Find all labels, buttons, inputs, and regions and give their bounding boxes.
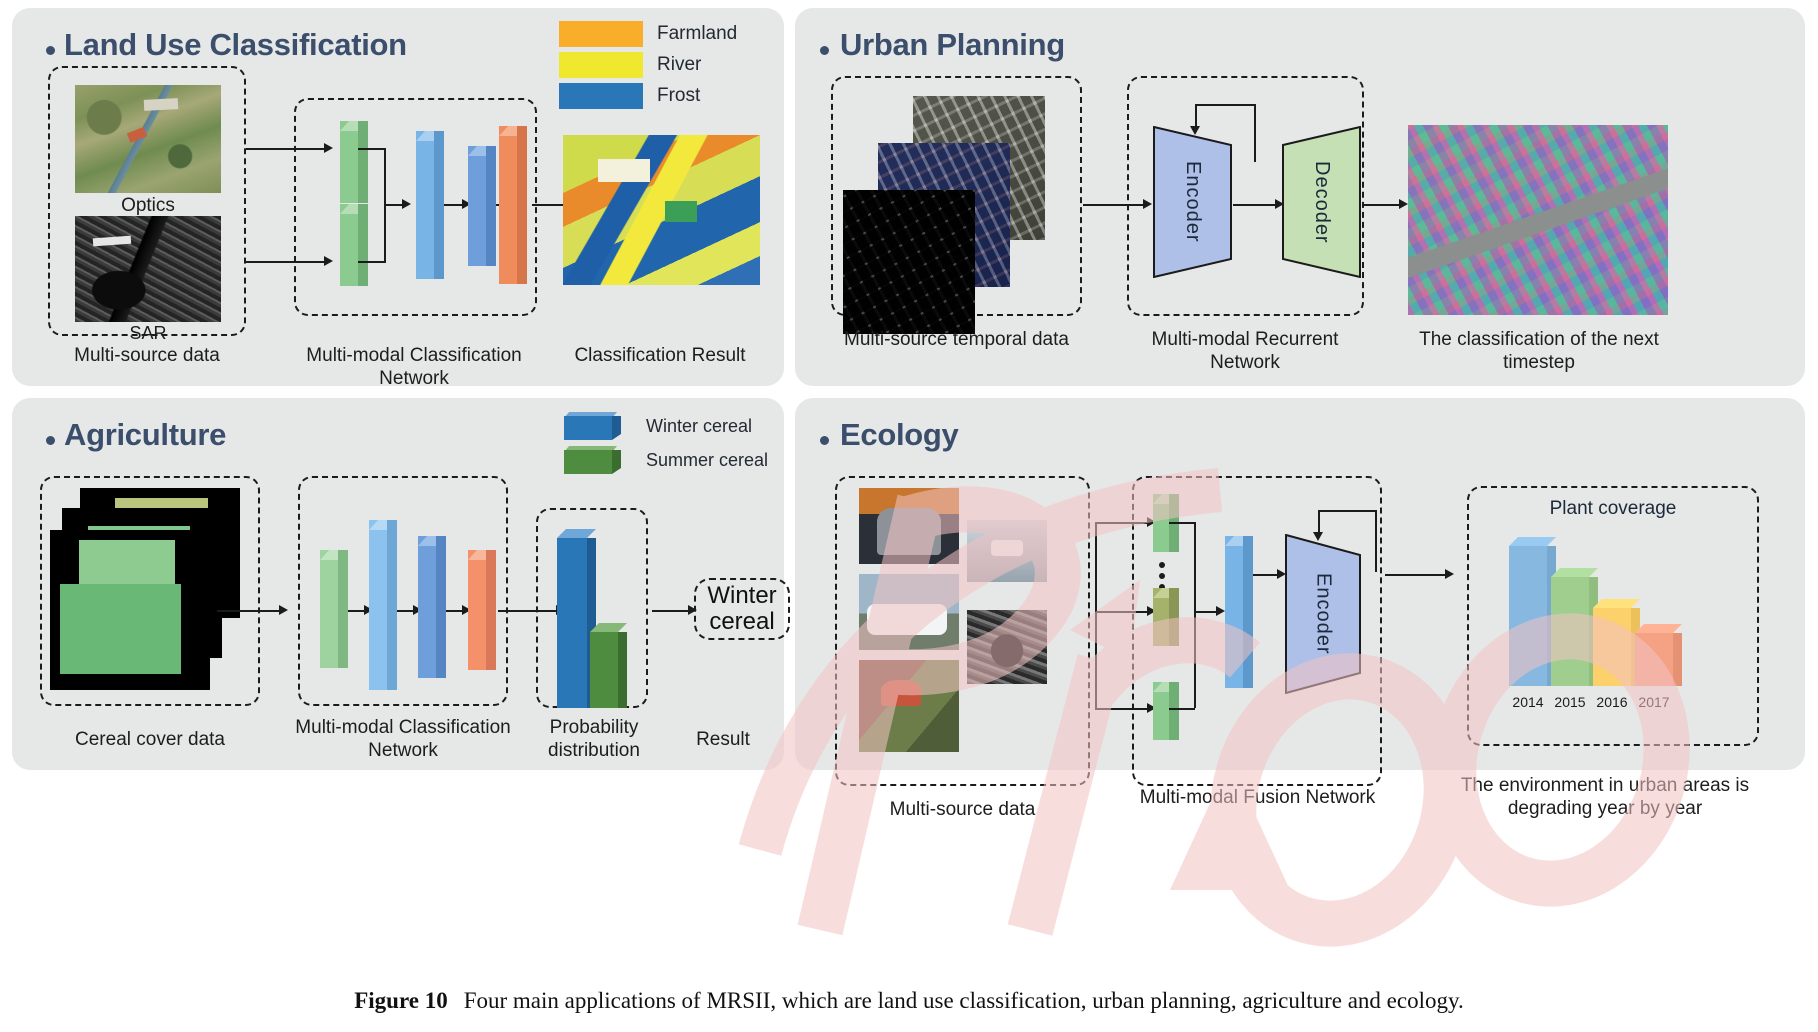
legend-swatch-farmland (559, 21, 643, 47)
encoder-label: Encoder (1181, 161, 1204, 243)
prob-bar-summer-cereal (590, 632, 618, 708)
bar-2014 (1509, 546, 1547, 686)
panel-title-agriculture: Agriculture (64, 417, 226, 453)
caption-multi-source-data: Multi-source data (48, 344, 246, 367)
arrow-head-input-agri (279, 605, 288, 615)
image-cereal-cover-3 (50, 530, 210, 690)
figure-caption: Figure 10Four main applications of MRSII… (0, 988, 1818, 1014)
layer-agri-conv-blue (418, 536, 436, 678)
legend-item-summer-cereal: Summer cereal (564, 446, 768, 474)
fanout-spine (1095, 522, 1097, 708)
caption-environment-degrading: The environment in urban areas is degrad… (1431, 774, 1779, 820)
caption-cereal-cover-data: Cereal cover data (30, 728, 270, 751)
arrow-agri-l1-l2 (397, 610, 413, 612)
arrow-head-eco-recurrent (1313, 532, 1323, 541)
layer-eco-conv-green-1 (1153, 494, 1169, 552)
panel-title-urban-planning: Urban Planning (840, 27, 1065, 63)
caption-classification-result: Classification Result (560, 344, 760, 367)
figure-caption-text: Four main applications of MRSII, which a… (464, 988, 1464, 1013)
legend-label-summer-cereal: Summer cereal (646, 450, 768, 471)
arrow-head-sar (324, 256, 333, 266)
eco-merge-bottom (1169, 708, 1195, 710)
eco-merge-out (1194, 611, 1216, 613)
bullet-icon-ecology (820, 436, 829, 445)
layer-agri-conv-green (320, 550, 338, 668)
layer-eco-conv-green-2 (1153, 588, 1169, 646)
layer-agri-conv-orange (468, 550, 486, 670)
figure-root: Land Use Classification Farmland River F… (0, 0, 1818, 1032)
arrow-agri-l0-l1 (348, 610, 364, 612)
chart-title-plant-coverage: Plant coverage (1467, 498, 1759, 520)
recurrent-loop-top (1195, 104, 1255, 106)
decoder-label: Decoder (1310, 161, 1333, 244)
label-sar: SAR (75, 322, 221, 345)
eco-recurrent-top (1318, 510, 1376, 512)
bar-label-2014: 2014 (1509, 694, 1547, 710)
legend-item-farmland: Farmland (559, 21, 737, 47)
merge-line-top (358, 148, 386, 150)
panel-land-use-classification: Land Use Classification Farmland River F… (12, 8, 784, 386)
bar-2017 (1635, 633, 1673, 686)
caption-multi-source-data-eco: Multi-source data (825, 798, 1100, 821)
arrow-eco-to-encoder (1253, 574, 1277, 576)
figure-number: Figure 10 (354, 988, 447, 1013)
arrow-head-recurrent (1190, 126, 1200, 135)
layer-conv-orange (499, 126, 517, 284)
layer-conv-green-bottom (340, 204, 358, 286)
block-encoder-eco: Encoder (1285, 534, 1361, 694)
bar-2015 (1551, 577, 1589, 686)
legend-label-farmland: Farmland (657, 23, 737, 45)
legend-label-frost: Frost (657, 85, 700, 107)
eco-merge-spine (1194, 522, 1196, 708)
caption-classification-network-agri: Multi-modal Classification Network (270, 716, 536, 762)
arrow-head-chart (1445, 569, 1454, 579)
bar-2016 (1593, 608, 1631, 686)
legend-item-river: River (559, 52, 701, 78)
bar-label-2017: 2017 (1635, 694, 1673, 710)
arrow-head-optics (324, 143, 333, 153)
arrow-head-output-urban (1399, 199, 1408, 209)
layer-eco-conv-green-3 (1153, 682, 1169, 740)
arrow-decoder-to-output (1363, 204, 1399, 206)
legend-item-winter-cereal: Winter cereal (564, 412, 752, 440)
arrow-optics-to-network (246, 148, 324, 150)
recurrent-loop-right (1254, 104, 1256, 162)
ellipsis-vertical-icon (1159, 562, 1165, 590)
arrow-encoder-to-decoder (1233, 204, 1275, 206)
image-aerial (859, 660, 959, 752)
block-decoder: Decoder (1282, 126, 1361, 278)
panel-agriculture: Agriculture Winter cereal Summer cereal (12, 398, 784, 770)
panel-title-land-use: Land Use Classification (64, 27, 407, 63)
panel-ecology: Ecology (795, 398, 1805, 770)
layer-conv-blue (468, 146, 486, 266)
caption-result-agri: Result (668, 728, 778, 751)
merge-line-bottom (358, 261, 386, 263)
eco-merge-top (1169, 522, 1195, 524)
legend-cube-summer (564, 446, 622, 474)
image-sar-patch (967, 610, 1047, 684)
layer-eco-conv-blue (1225, 536, 1243, 688)
image-drone (967, 520, 1047, 582)
arrow-l1-l2 (444, 204, 462, 206)
image-classification-result (563, 135, 760, 285)
legend-swatch-river (559, 52, 643, 78)
caption-next-timestep: The classification of the next timestep (1403, 328, 1675, 374)
merge-to-next (384, 204, 402, 206)
label-optics: Optics (75, 194, 221, 217)
bullet-icon-urban (820, 46, 829, 55)
eco-recurrent-right (1375, 510, 1377, 572)
arrow-input-to-network-agri (217, 610, 279, 612)
bullet-icon-land-use (46, 46, 55, 55)
caption-multi-source-temporal-data: Multi-source temporal data (831, 328, 1082, 351)
arrow-agri-l2-l3 (446, 610, 462, 612)
arrow-encoder-to-chart (1385, 574, 1445, 576)
layer-conv-lightblue (416, 131, 434, 279)
image-temporal-sar (843, 190, 975, 334)
image-next-timestep-classification (1408, 125, 1668, 315)
arrow-prob-to-result (652, 610, 688, 612)
caption-fusion-network: Multi-modal Fusion Network (1125, 786, 1390, 809)
bar-label-2015: 2015 (1551, 694, 1589, 710)
image-street-view-car (859, 574, 959, 650)
legend-cube-winter (564, 412, 622, 440)
image-optics (75, 85, 221, 193)
panel-urban-planning: Urban Planning Encoder De (795, 8, 1805, 386)
result-box-winter-cereal: Winter cereal (694, 578, 790, 640)
legend-label-river: River (657, 54, 701, 76)
bar-label-2016: 2016 (1593, 694, 1631, 710)
arrow-sar-to-network (246, 261, 324, 263)
bar-chart-plant-coverage: 2014201520162017 (1495, 532, 1735, 712)
caption-probability-distribution: Probability distribution (530, 716, 658, 762)
legend-label-winter-cereal: Winter cereal (646, 416, 752, 437)
image-telescope (859, 488, 959, 564)
arrow-head-merge (402, 199, 411, 209)
arrow-head-eco-merge (1216, 606, 1225, 616)
panel-title-ecology: Ecology (840, 417, 958, 453)
caption-recurrent-network: Multi-modal Recurrent Network (1115, 328, 1375, 374)
prob-bar-winter-cereal (557, 538, 587, 708)
layer-agri-conv-lightblue (369, 520, 387, 690)
block-encoder: Encoder (1153, 126, 1232, 278)
legend-item-frost: Frost (559, 83, 700, 109)
caption-classification-network: Multi-modal Classification Network (280, 344, 548, 390)
legend-swatch-frost (559, 83, 643, 109)
image-sar (75, 216, 221, 322)
layer-conv-green-top (340, 121, 358, 203)
encoder-label-eco: Encoder (1312, 573, 1335, 655)
bullet-icon-agriculture (46, 436, 55, 445)
